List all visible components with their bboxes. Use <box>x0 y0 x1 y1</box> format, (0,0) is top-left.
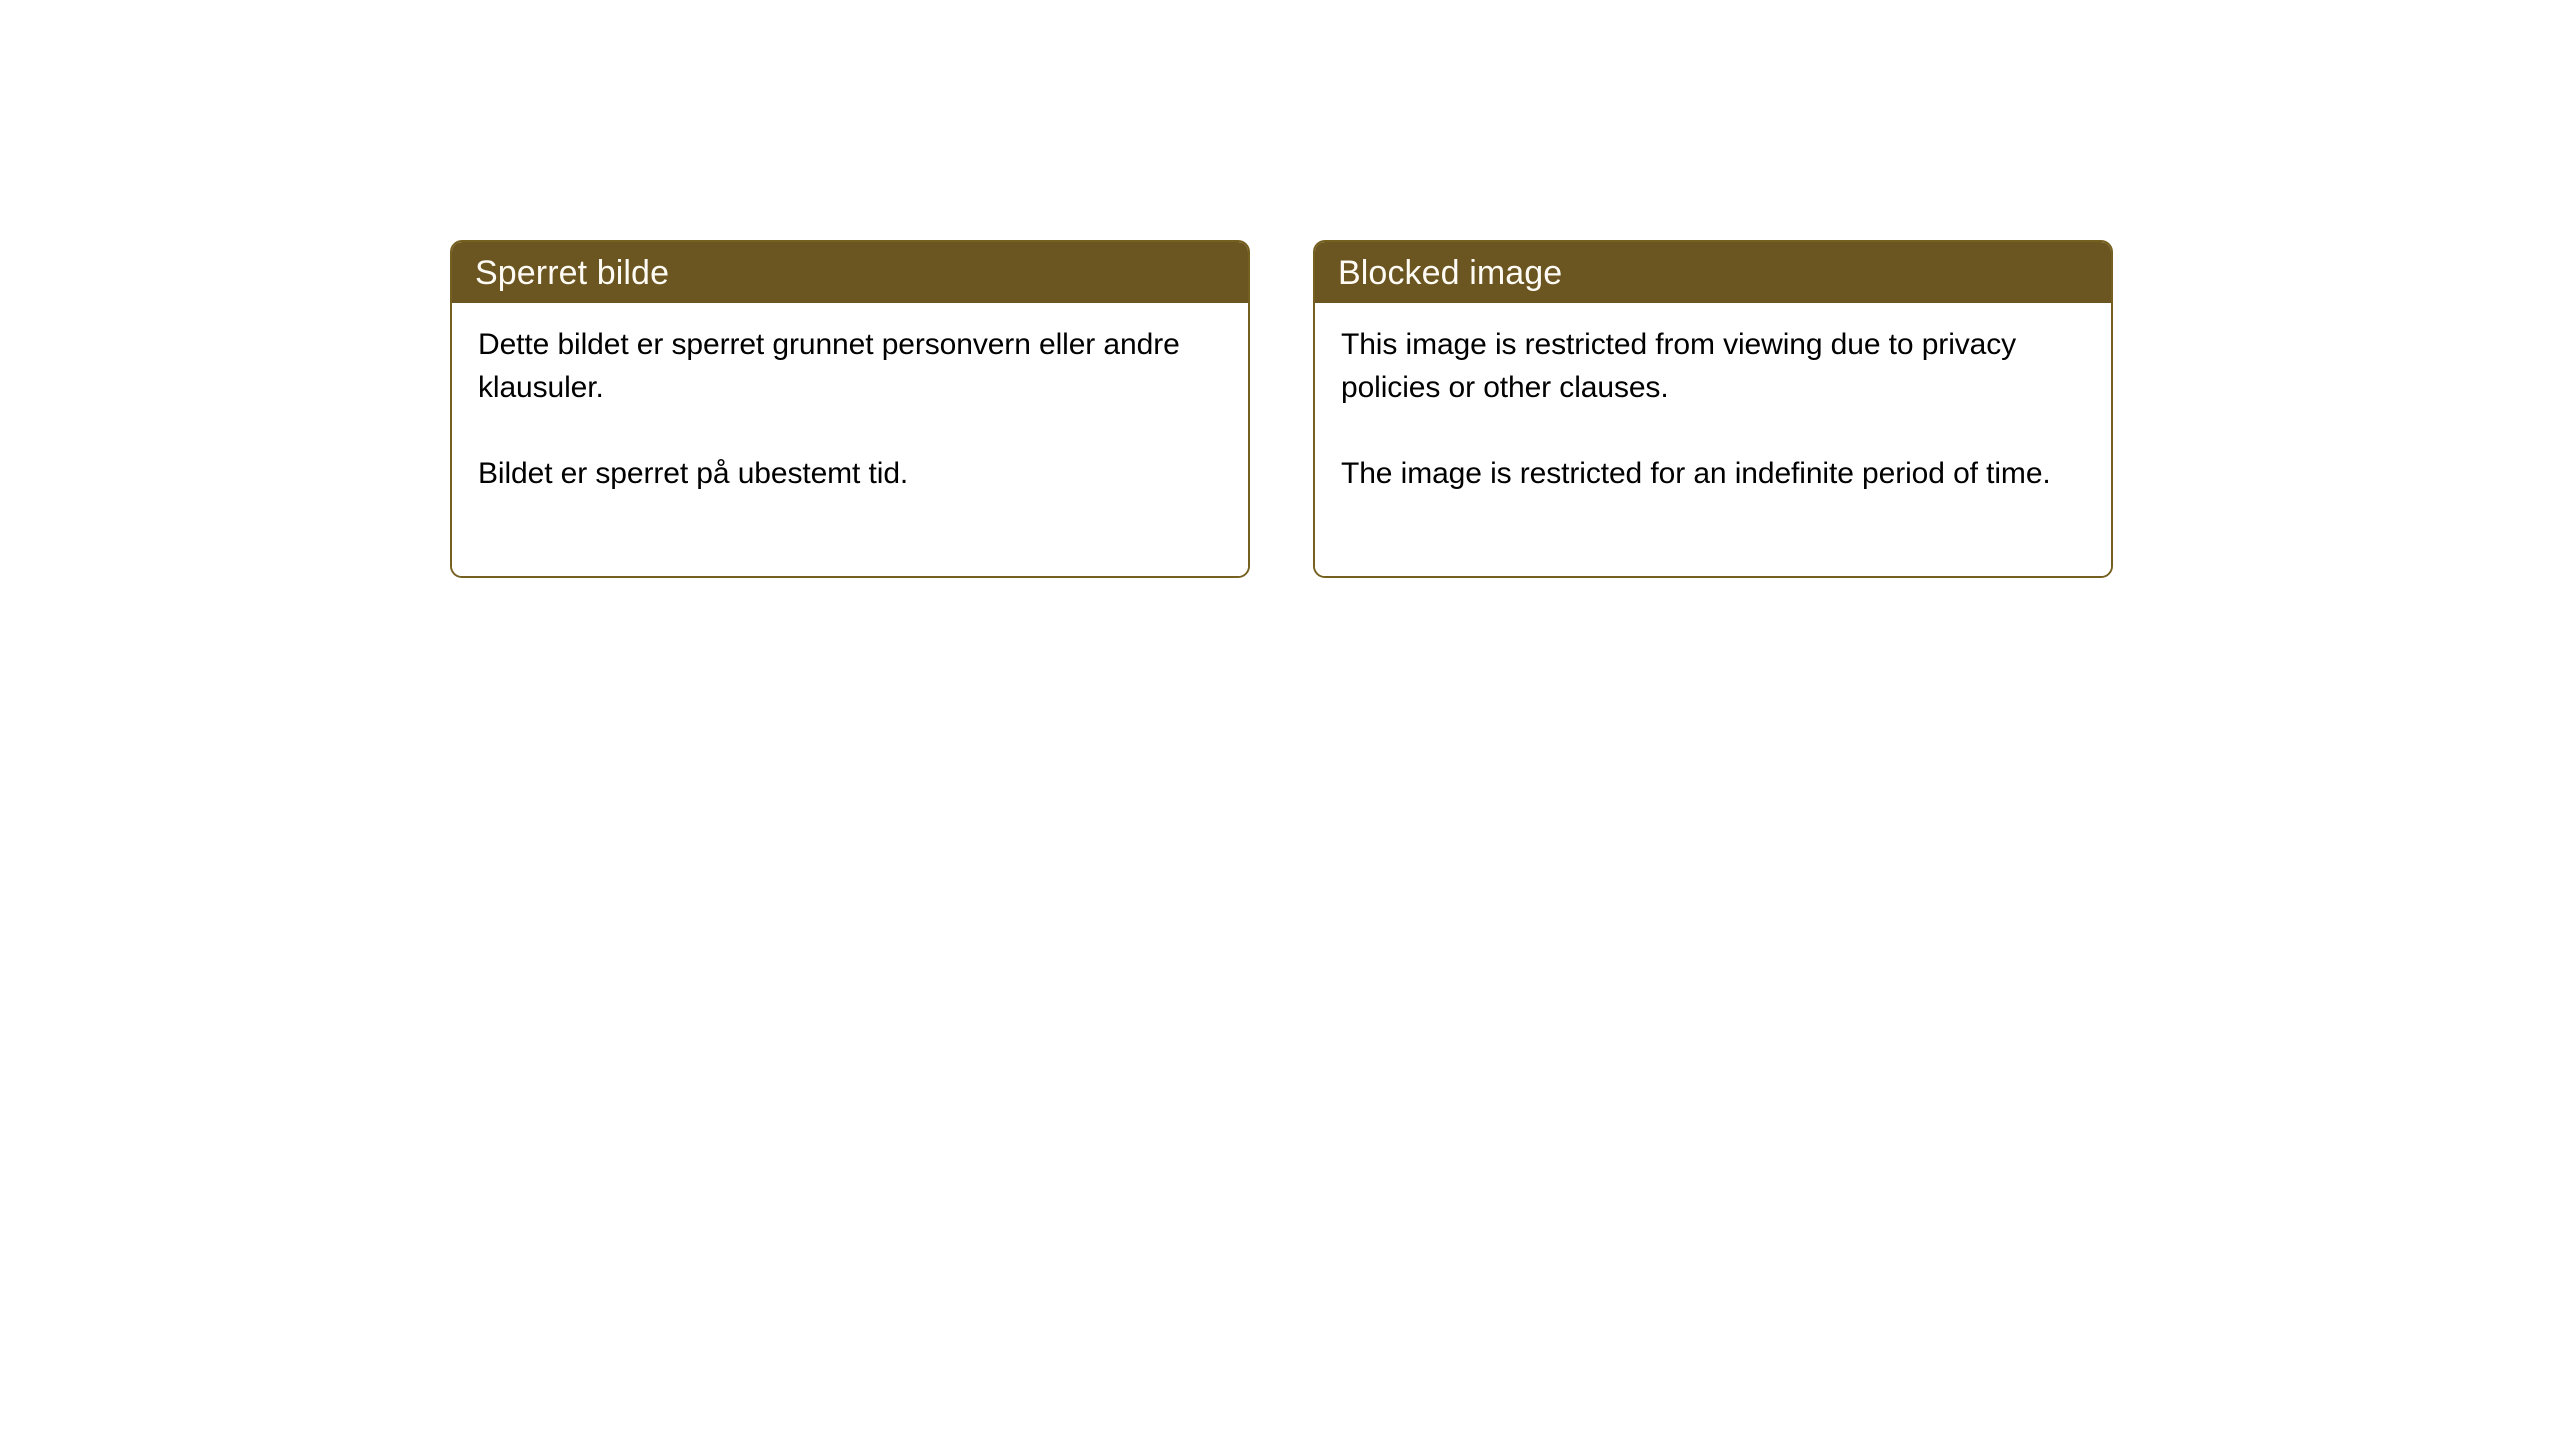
card-title-english: Blocked image <box>1338 256 1562 290</box>
card-paragraph-norwegian-1: Dette bildet er sperret grunnet personve… <box>478 323 1222 409</box>
card-header-norwegian: Sperret bilde <box>452 242 1248 303</box>
card-body-english: This image is restricted from viewing du… <box>1315 303 2111 576</box>
card-paragraph-norwegian-2: Bildet er sperret på ubestemt tid. <box>478 452 1222 495</box>
card-body-norwegian: Dette bildet er sperret grunnet personve… <box>452 303 1248 576</box>
card-paragraph-english-1: This image is restricted from viewing du… <box>1341 323 2085 409</box>
card-header-english: Blocked image <box>1315 242 2111 303</box>
card-paragraph-english-2: The image is restricted for an indefinit… <box>1341 452 2085 495</box>
blocked-image-card-english: Blocked image This image is restricted f… <box>1313 240 2113 578</box>
card-title-norwegian: Sperret bilde <box>475 256 669 290</box>
blocked-image-card-norwegian: Sperret bilde Dette bildet er sperret gr… <box>450 240 1250 578</box>
blocked-image-notice-area: Sperret bilde Dette bildet er sperret gr… <box>0 0 2560 1440</box>
